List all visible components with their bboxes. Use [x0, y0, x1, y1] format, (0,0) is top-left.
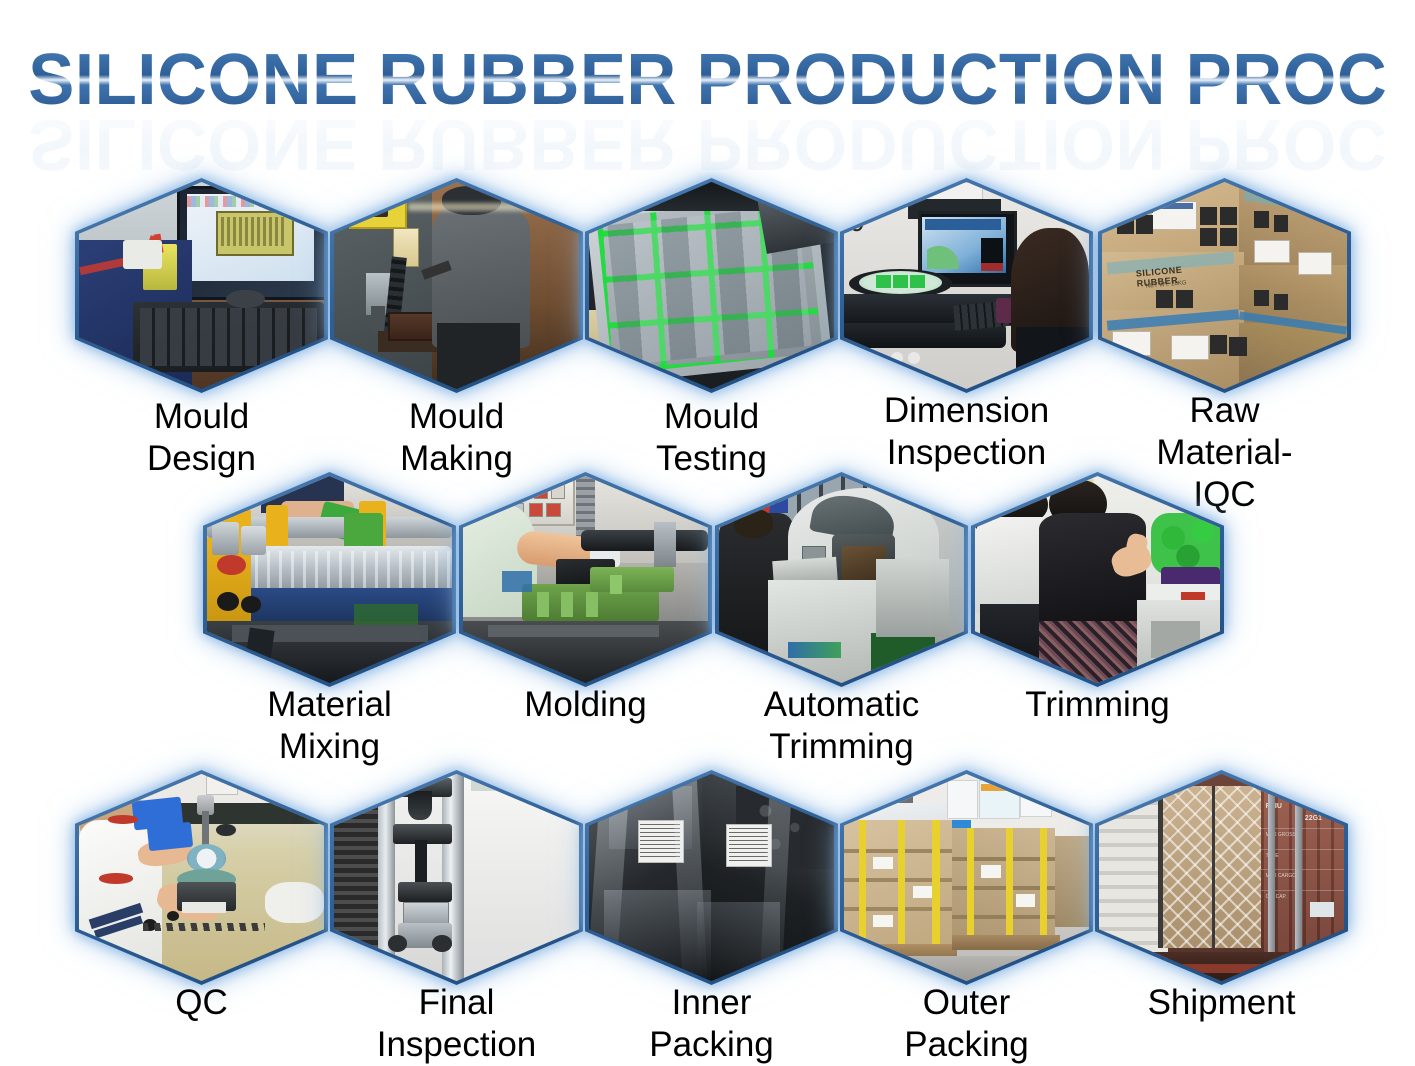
process-step-mould-design[interactable]: Mould Design	[75, 178, 328, 393]
process-step-dimension-inspection[interactable]: 20	[840, 178, 1093, 393]
process-step-label: Shipment	[1072, 982, 1372, 1024]
material-mixing-photo	[207, 476, 452, 683]
process-step-automatic-trimming[interactable]: Automatic Trimming	[715, 472, 968, 687]
qc-photo	[79, 774, 324, 981]
process-step-shipment[interactable]: FCIU 415049 9 22G1 MAX GROSS TARE MAX CA…	[1095, 770, 1348, 985]
page-title-reflection: SILICONE RUBBER PRODUCTION PROCESS	[28, 102, 1386, 186]
automatic-trimming-photo	[719, 476, 964, 683]
trimming-photo	[975, 476, 1220, 683]
process-step-final-inspection[interactable]: Final Inspection	[330, 770, 583, 985]
outer-packing-photo	[844, 774, 1089, 981]
process-step-label: Trimming	[948, 684, 1248, 726]
mould-design-photo	[79, 182, 324, 389]
molding-photo	[463, 476, 708, 683]
page-title-block: SILICONE RUBBER PRODUCTION PROCESS SILIC…	[0, 38, 1415, 158]
process-step-inner-packing[interactable]: Inner Packing	[585, 770, 838, 985]
process-step-label: Material Mixing	[180, 684, 480, 768]
process-step-label: Dimension Inspection	[807, 390, 1127, 474]
process-step-raw-material-iqc[interactable]: SILICONE RUBBER NET WT. 20KG SILICONE R	[1098, 178, 1351, 393]
mould-making-photo	[334, 182, 579, 389]
dimension-inspection-photo: 20	[844, 182, 1089, 389]
process-step-mould-making[interactable]: Mould Making	[330, 178, 583, 393]
inner-packing-photo	[589, 774, 834, 981]
process-step-qc[interactable]: QC	[75, 770, 328, 985]
process-step-molding[interactable]: Molding	[459, 472, 712, 687]
process-step-label: Automatic Trimming	[692, 684, 992, 768]
process-step-trimming[interactable]: Trimming	[971, 472, 1224, 687]
raw-material-iqc-photo: SILICONE RUBBER NET WT. 20KG SILICONE R	[1102, 182, 1347, 389]
shipment-photo: FCIU 415049 9 22G1 MAX GROSS TARE MAX CA…	[1099, 774, 1344, 981]
final-inspection-photo	[334, 774, 579, 981]
process-step-material-mixing[interactable]: Material Mixing	[203, 472, 456, 687]
mould-testing-photo	[589, 182, 834, 389]
process-step-label: Molding	[436, 684, 736, 726]
process-step-outer-packing[interactable]: Outer Packing	[840, 770, 1093, 985]
process-step-mould-testing[interactable]: Mould Testing	[585, 178, 838, 393]
